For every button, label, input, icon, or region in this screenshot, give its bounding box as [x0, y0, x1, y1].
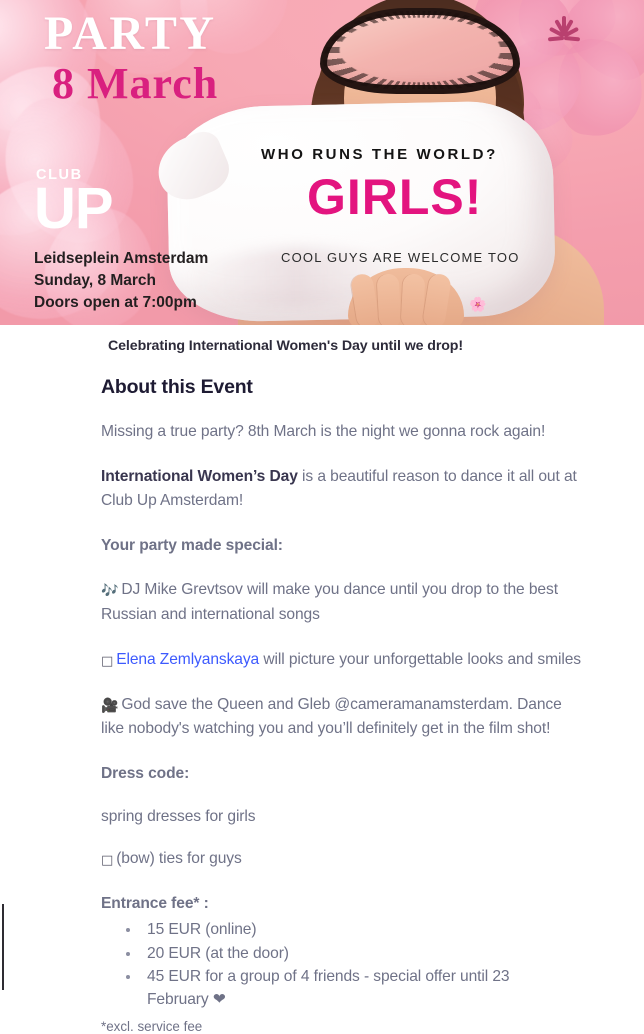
subheading-dress-code: Dress code: — [101, 741, 587, 786]
item-dj: 🎶DJ Mike Grevtsov will make you dance un… — [101, 557, 587, 626]
dress-code-guys: □(bow) ties for guys — [101, 828, 587, 871]
venue-day: Sunday, 8 March — [34, 270, 208, 292]
photographer-link[interactable]: Elena Zemlyanskaya — [116, 651, 259, 668]
cherry-blossom-icon: 🌸 — [469, 295, 644, 465]
logo-up-text: UP — [34, 184, 113, 234]
musical-notes-icon: 🎶 — [101, 583, 118, 599]
venue-location: Leidseplein Amsterdam — [34, 248, 208, 270]
club-up-logo: CLUB UP — [34, 168, 113, 233]
description-body: Missing a true party? 8th March is the n… — [0, 399, 586, 1034]
subheading-entrance-fee: Entrance fee* : — [101, 871, 587, 916]
event-hero-banner: PARTY 8 March CLUB UP Leidseplein Amster… — [0, 0, 644, 325]
list-item: 45 EUR for a group of 4 friends - specia… — [141, 965, 571, 1012]
banner-date: 8 March — [52, 62, 218, 106]
fee-footnote: *excl. service fee — [101, 1012, 586, 1034]
item-photographer-text: will picture your unforgettable looks an… — [259, 651, 581, 668]
camera-photo-icon: □ — [101, 654, 113, 669]
item-videographer: 🎥God save the Queen and Gleb @cameramana… — [101, 672, 587, 741]
event-description-section: Celebrating International Women's Day un… — [0, 325, 644, 1034]
banner-title: PARTY — [44, 10, 217, 58]
bowtie-icon: □ — [101, 853, 113, 868]
item-videographer-text: God save the Queen and Gleb @cameramanam… — [101, 696, 562, 737]
entrance-fee-list: 15 EUR (online) 20 EUR (at the door) 45 … — [101, 916, 571, 1012]
banner-headline-big: GIRLS! — [307, 172, 482, 222]
iwd-bold-phrase: International Women’s Day — [101, 468, 298, 485]
sleep-mask-frill — [320, 8, 520, 94]
banner-subline: COOL GUYS ARE WELCOME TOO — [281, 250, 520, 265]
dress-code-guys-text: (bow) ties for guys — [116, 850, 242, 867]
dress-code-girls-text: spring dresses for girls — [101, 808, 255, 825]
venue-doors: Doors open at 7:00pm — [34, 292, 208, 314]
venue-details: Leidseplein Amsterdam Sunday, 8 March Do… — [34, 248, 208, 314]
list-item: 15 EUR (online) — [141, 918, 571, 941]
banner-headline-small: WHO RUNS THE WORLD? — [261, 146, 498, 163]
page-edge-rule — [2, 904, 4, 990]
list-item: 20 EUR (at the door) — [141, 942, 571, 965]
item-photographer: □Elena Zemlyanskaya will picture your un… — [101, 627, 587, 672]
subheading-party-special: Your party made special: — [101, 513, 587, 558]
item-dj-text: DJ Mike Grevtsov will make you dance unt… — [101, 581, 558, 622]
dress-code-girls: 🌸spring dresses for girls — [101, 786, 587, 829]
movie-camera-icon: 🎥 — [101, 698, 118, 714]
